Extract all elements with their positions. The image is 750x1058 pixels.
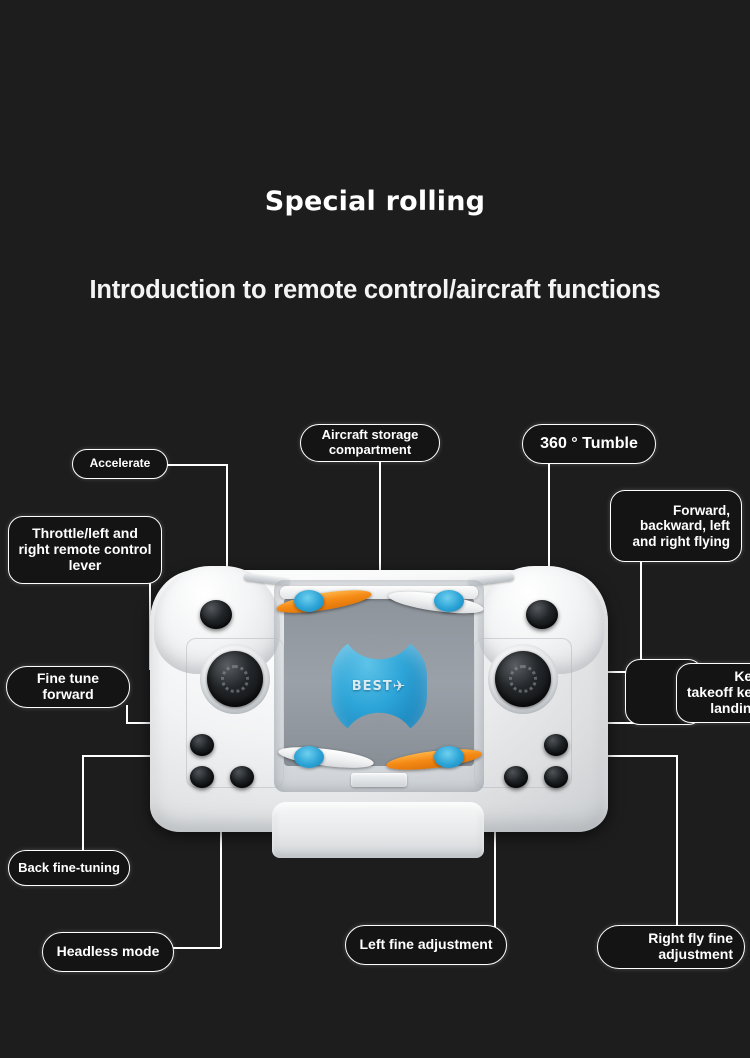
- leader-flying-v: [640, 560, 642, 673]
- leader-backfine-v: [82, 755, 84, 863]
- button-headless-mode[interactable]: [230, 766, 254, 788]
- joystick-right-cap[interactable]: [495, 651, 551, 707]
- callout-back-fine-tuning-label: Back fine-tuning: [18, 861, 120, 876]
- callout-headless-mode[interactable]: Headless mode: [42, 932, 174, 972]
- button-key-takeoff[interactable]: [544, 734, 568, 756]
- star-icon: ✈: [393, 677, 407, 695]
- joystick-left-cap[interactable]: [207, 651, 263, 707]
- callout-right-fly-fine-adjustment[interactable]: Right fly fine adjustment: [597, 925, 745, 969]
- page-subtitle: Introduction to remote control/aircraft …: [0, 276, 750, 305]
- button-right-fly-fine-adjust[interactable]: [504, 766, 528, 788]
- callout-key-takeoff[interactable]: Key takeoff key landing: [676, 663, 750, 723]
- callout-throttle-lever[interactable]: Throttle/left and right remote control l…: [8, 516, 162, 584]
- callout-fine-tune-forward[interactable]: Fine tune forward: [6, 666, 130, 708]
- callout-back-fine-tuning[interactable]: Back fine-tuning: [8, 850, 130, 886]
- callout-left-fine-adjustment[interactable]: Left fine adjustment: [345, 925, 507, 965]
- callout-accelerate[interactable]: Accelerate: [72, 449, 168, 479]
- leader-accelerate-h: [165, 464, 228, 466]
- controller-hand-grip: [272, 802, 484, 858]
- leader-headless-h: [168, 947, 221, 949]
- callout-headless-mode-label: Headless mode: [57, 944, 160, 960]
- callout-tumble-360[interactable]: 360 ° Tumble: [522, 424, 656, 464]
- callout-accelerate-label: Accelerate: [90, 457, 151, 470]
- callout-throttle-lever-label: Throttle/left and right remote control l…: [17, 526, 153, 573]
- drone-brand-text: BEST: [352, 679, 393, 694]
- callout-fine-tune-forward-label: Fine tune forward: [15, 671, 121, 702]
- motor-front-left: [294, 590, 324, 612]
- motor-rear-left: [294, 746, 324, 768]
- callout-tumble-360-label: 360 ° Tumble: [540, 435, 638, 453]
- aircraft-storage-bay: BEST✈: [274, 580, 484, 792]
- promo-infographic: Special rolling Introduction to remote c…: [0, 0, 750, 1058]
- button-left-fine-adjust[interactable]: [544, 766, 568, 788]
- bay-latch: [351, 773, 407, 787]
- callout-aircraft-storage[interactable]: Aircraft storage compartment: [300, 424, 440, 462]
- callout-left-fine-adjustment-label: Left fine adjustment: [359, 937, 492, 953]
- joystick-right[interactable]: [488, 644, 558, 714]
- motor-front-right: [434, 590, 464, 612]
- callout-aircraft-storage-label: Aircraft storage compartment: [309, 428, 431, 457]
- leader-finetune-v: [126, 705, 128, 723]
- callout-directional-flying[interactable]: Forward, backward, left and right flying: [610, 490, 742, 562]
- button-360-tumble[interactable]: [526, 600, 558, 629]
- callout-key-takeoff-label: Key takeoff key landing: [685, 669, 750, 716]
- drone-fuselage: BEST✈: [331, 634, 427, 738]
- button-back-fine-tuning[interactable]: [190, 766, 214, 788]
- callout-right-fly-fine-adjustment-label: Right fly fine adjustment: [606, 931, 733, 962]
- page-title: Special rolling: [0, 186, 750, 217]
- button-fine-tune-forward[interactable]: [190, 734, 214, 756]
- motor-rear-right: [434, 746, 464, 768]
- leader-rightfine-v: [676, 755, 678, 943]
- remote-controller-product: BEST✈: [148, 562, 610, 860]
- callout-directional-flying-label: Forward, backward, left and right flying: [619, 503, 730, 548]
- button-accelerate[interactable]: [200, 600, 232, 629]
- drone-brand-logo: BEST✈: [331, 677, 427, 695]
- joystick-left[interactable]: [200, 644, 270, 714]
